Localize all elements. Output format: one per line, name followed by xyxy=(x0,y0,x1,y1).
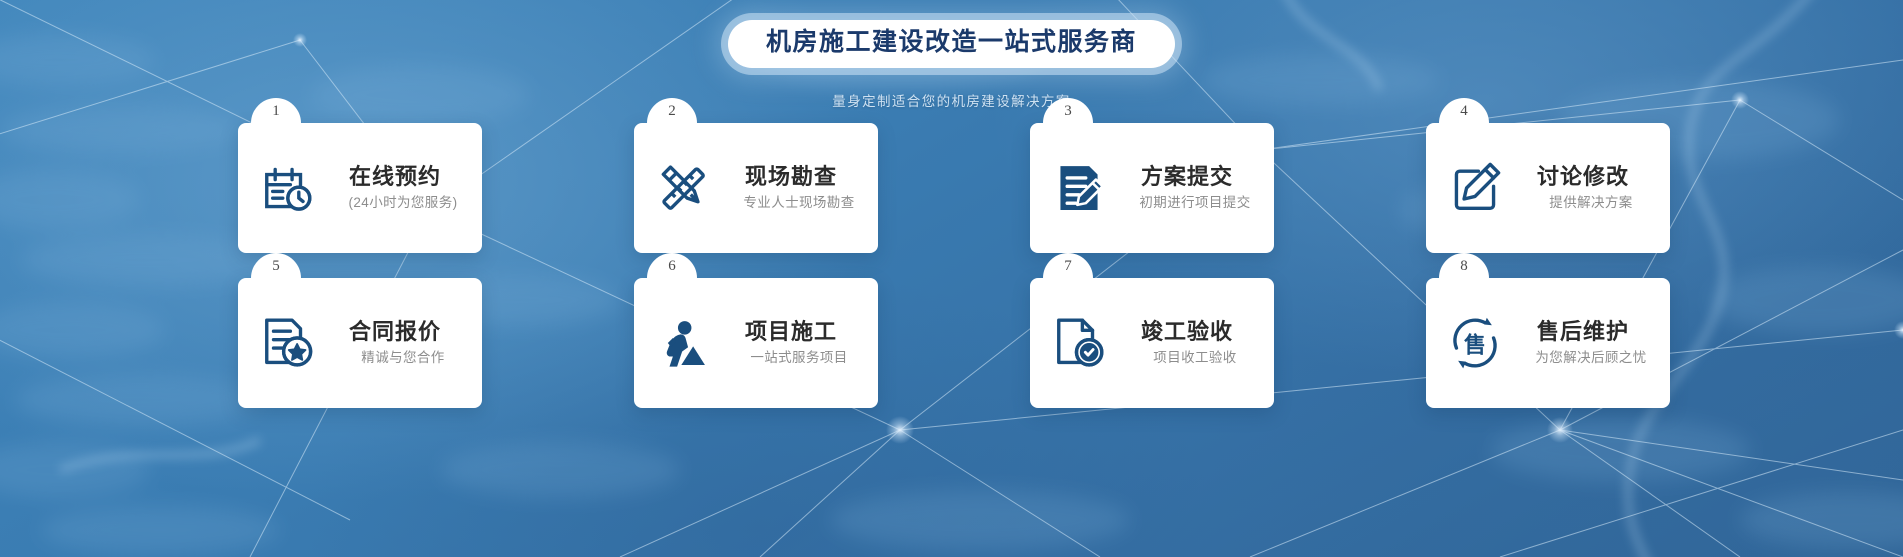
step-desc: 提供解决方案 xyxy=(1549,195,1632,210)
ruler-pencil-icon xyxy=(656,161,710,215)
step-title: 售后维护 xyxy=(1537,319,1629,344)
step-card-4[interactable]: 4 讨论修改 提供解决方案 xyxy=(1426,123,1670,253)
step-card-6[interactable]: 6 项目施工 一站式服务项目 xyxy=(634,278,878,408)
page-title: 机房施工建设改造一站式服务商 xyxy=(728,20,1175,68)
step-title: 竣工验收 xyxy=(1141,319,1233,344)
calendar-clock-icon xyxy=(260,161,314,215)
hero-banner: 机房施工建设改造一站式服务商 量身定制适合您的机房建设解决方案 1 xyxy=(0,0,1903,557)
document-edit-filled-icon xyxy=(1052,161,1106,215)
step-desc: 一站式服务项目 xyxy=(750,350,847,365)
step-title: 合同报价 xyxy=(349,319,441,344)
step-title: 现场勘查 xyxy=(745,164,837,189)
step-desc: 项目收工验收 xyxy=(1153,350,1236,365)
step-title: 讨论修改 xyxy=(1537,164,1629,189)
step-title: 项目施工 xyxy=(745,319,837,344)
step-card-1[interactable]: 1 在线预约 (24小时为您服务) xyxy=(238,123,482,253)
step-desc: (24小时为您服务) xyxy=(348,195,457,210)
step-desc: 为您解决后顾之忧 xyxy=(1535,350,1646,365)
after-sales-cycle-icon: 售 xyxy=(1448,316,1502,370)
banner-header: 机房施工建设改造一站式服务商 量身定制适合您的机房建设解决方案 xyxy=(0,0,1903,110)
step-title: 在线预约 xyxy=(349,164,441,189)
step-card-8[interactable]: 8 售 售后维护 为您解决后顾之忧 xyxy=(1426,278,1670,408)
construction-worker-icon xyxy=(656,316,710,370)
document-star-badge-icon xyxy=(260,316,314,370)
step-card-2[interactable]: 2 现场勘查 xyxy=(634,123,878,253)
step-card-5[interactable]: 5 合同报价 精诚与您合作 xyxy=(238,278,482,408)
step-desc: 专业人士现场勘查 xyxy=(743,195,854,210)
step-card-3[interactable]: 3 方案提交 初期进行项目提 xyxy=(1030,123,1274,253)
pencil-square-icon xyxy=(1448,161,1502,215)
step-title: 方案提交 xyxy=(1141,164,1233,189)
document-check-icon xyxy=(1052,316,1106,370)
svg-text:售: 售 xyxy=(1464,332,1486,357)
step-desc: 精诚与您合作 xyxy=(361,350,444,365)
step-card-7[interactable]: 7 竣工验收 项目收工验收 xyxy=(1030,278,1274,408)
process-steps-grid: 1 在线预约 (24小时为您服务) xyxy=(238,123,1670,408)
step-desc: 初期进行项目提交 xyxy=(1139,195,1250,210)
